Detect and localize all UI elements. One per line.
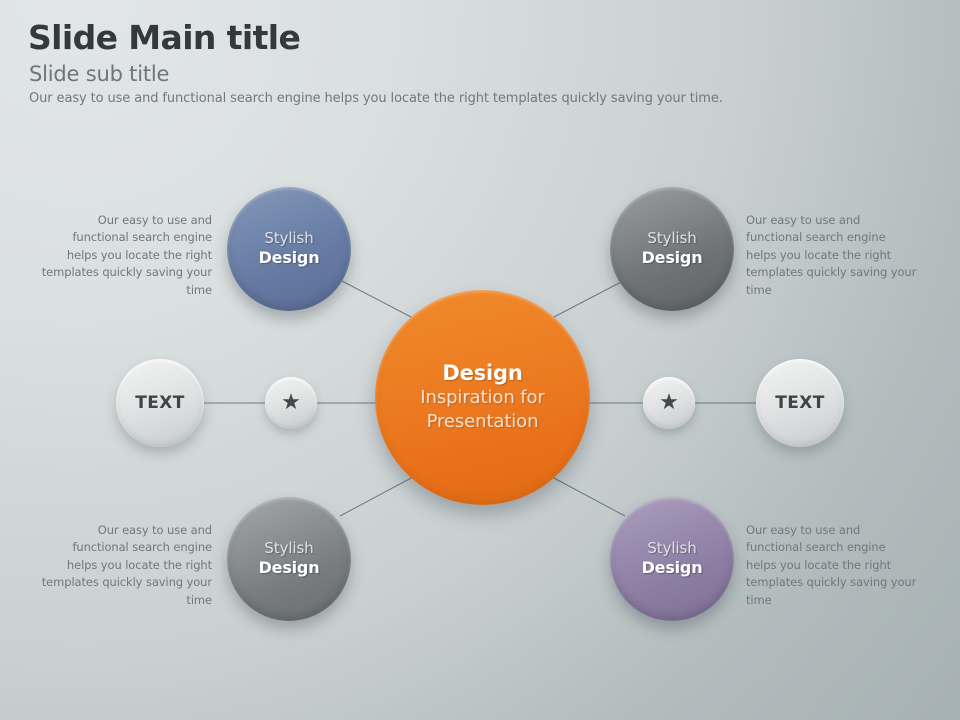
caption-top-right: Our easy to use and functional search en… bbox=[746, 212, 918, 299]
center-hub-circle[interactable]: Design Inspiration for Presentation bbox=[375, 290, 590, 505]
connector-hub-to-top-right bbox=[552, 280, 625, 318]
hub-line-2: Presentation bbox=[427, 410, 539, 434]
connector-hub-to-bottom-left bbox=[340, 477, 413, 516]
hub-title: Design bbox=[442, 361, 522, 386]
satellite-bottom-label: Design bbox=[259, 248, 320, 269]
star-badge-right[interactable]: ★ bbox=[643, 377, 695, 429]
text-circle-right[interactable]: TEXT bbox=[756, 359, 844, 447]
satellite-top-label: Stylish bbox=[647, 539, 696, 558]
connector-hub-to-top-left bbox=[340, 280, 413, 318]
caption-bottom-right: Our easy to use and functional search en… bbox=[746, 522, 918, 609]
satellite-bottom-label: Design bbox=[642, 558, 703, 579]
satellite-circle-top-right[interactable]: Stylish Design bbox=[610, 187, 734, 311]
satellite-circle-top-left[interactable]: Stylish Design bbox=[227, 187, 351, 311]
caption-bottom-left: Our easy to use and functional search en… bbox=[40, 522, 212, 609]
satellite-top-label: Stylish bbox=[647, 229, 696, 248]
satellite-top-label: Stylish bbox=[264, 229, 313, 248]
text-circle-label: TEXT bbox=[775, 393, 825, 413]
text-circle-label: TEXT bbox=[135, 393, 185, 413]
satellite-bottom-label: Design bbox=[259, 558, 320, 579]
connector-hub-to-bottom-right bbox=[552, 477, 625, 516]
slide-canvas: Slide Main title Slide sub title Our eas… bbox=[0, 0, 960, 720]
star-badge-left[interactable]: ★ bbox=[265, 377, 317, 429]
star-icon: ★ bbox=[281, 392, 301, 414]
star-icon: ★ bbox=[659, 392, 679, 414]
satellite-circle-bottom-right[interactable]: Stylish Design bbox=[610, 497, 734, 621]
text-circle-left[interactable]: TEXT bbox=[116, 359, 204, 447]
caption-top-left: Our easy to use and functional search en… bbox=[40, 212, 212, 299]
satellite-bottom-label: Design bbox=[642, 248, 703, 269]
satellite-circle-bottom-left[interactable]: Stylish Design bbox=[227, 497, 351, 621]
satellite-top-label: Stylish bbox=[264, 539, 313, 558]
hub-line-1: Inspiration for bbox=[420, 386, 544, 410]
